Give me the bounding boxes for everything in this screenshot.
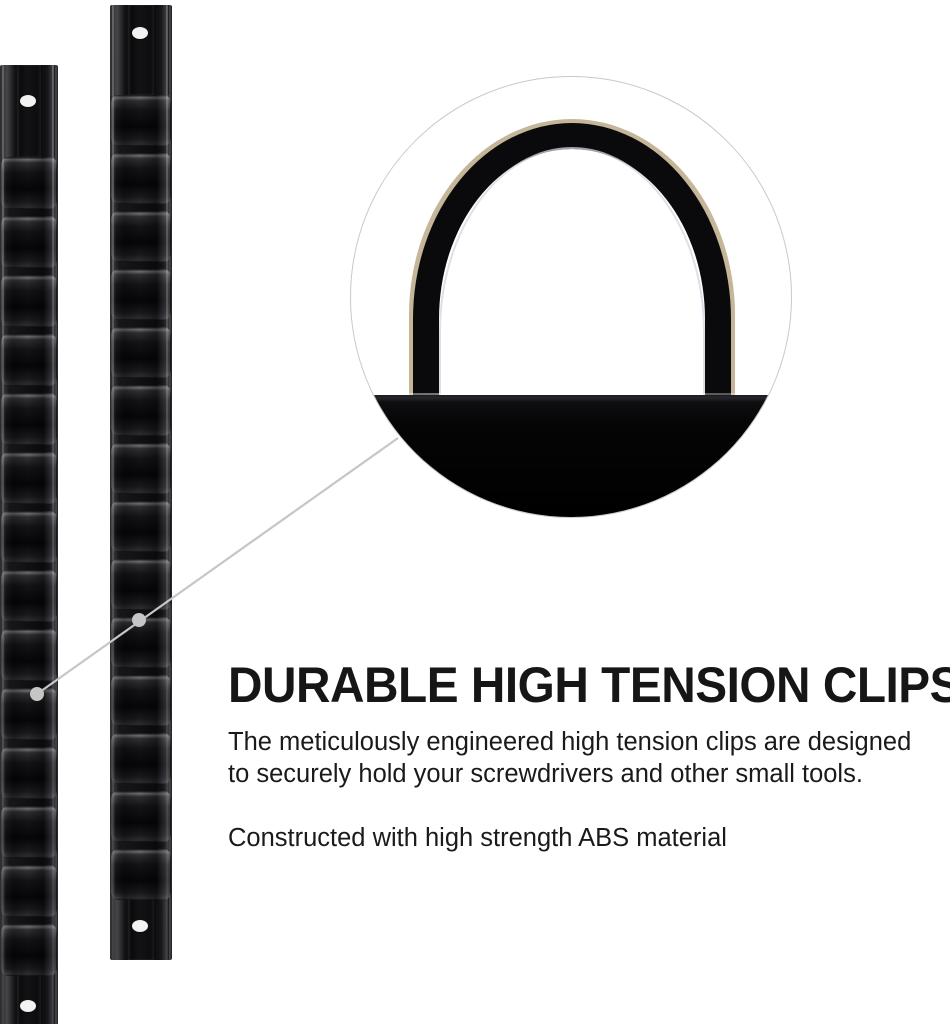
- feature-text-block: DURABLE HIGH TENSION CLIPS The meticulou…: [228, 658, 950, 854]
- tension-clip: [1, 393, 57, 445]
- rail-mounting-tab-top: [3, 65, 55, 157]
- product-rail-right: [110, 5, 172, 960]
- rail-base-surface: [350, 395, 792, 517]
- tension-clip: [111, 327, 171, 378]
- tension-clip: [111, 211, 171, 262]
- feature-headline: DURABLE HIGH TENSION CLIPS: [228, 658, 918, 712]
- tension-clip: [111, 269, 171, 320]
- tension-clip: [111, 791, 171, 842]
- tension-clip: [1, 865, 57, 917]
- magnifier-circle: [350, 76, 792, 518]
- tension-clip: [111, 385, 171, 436]
- tension-clip: [111, 443, 171, 494]
- feature-description: The meticulously engineered high tension…: [228, 726, 928, 790]
- rail-edge-highlight: [52, 65, 54, 1024]
- product-feature-image: DURABLE HIGH TENSION CLIPS The meticulou…: [0, 0, 950, 1024]
- tension-clip: [1, 806, 57, 858]
- callout-dot-right-rail: [132, 613, 146, 627]
- rail-mounting-tab-top: [113, 5, 169, 95]
- tension-clip: [111, 559, 171, 610]
- rail-mounting-hole-bottom: [20, 1000, 36, 1012]
- rail-edge-highlight: [166, 5, 168, 960]
- tension-clip: [111, 733, 171, 784]
- rail-edge-highlight: [2, 65, 4, 1024]
- tension-clip: [111, 849, 171, 900]
- tension-clip: [1, 570, 57, 622]
- product-rail-left: [0, 65, 58, 1024]
- material-note: Constructed with high strength ABS mater…: [228, 822, 950, 854]
- callout-line-path: [37, 438, 398, 694]
- tension-clip: [111, 675, 171, 726]
- tension-clip: [111, 501, 171, 552]
- rail-edge-highlight: [112, 5, 114, 960]
- tension-clip: [111, 153, 171, 204]
- tension-clip: [1, 747, 57, 799]
- tension-clip: [1, 334, 57, 386]
- tension-clip: [1, 511, 57, 563]
- rail-mounting-hole-top: [20, 95, 36, 107]
- tension-clip: [1, 216, 57, 268]
- tension-clip: [1, 157, 57, 209]
- tension-clip: [1, 452, 57, 504]
- tension-clip: [1, 924, 57, 976]
- tension-clip: [1, 275, 57, 327]
- callout-dot-left-rail: [30, 687, 44, 701]
- rail-mounting-hole-bottom: [132, 920, 148, 932]
- tension-clip: [111, 95, 171, 146]
- tension-clip: [1, 629, 57, 681]
- rail-mounting-hole-top: [132, 27, 148, 39]
- tension-clip: [1, 688, 57, 740]
